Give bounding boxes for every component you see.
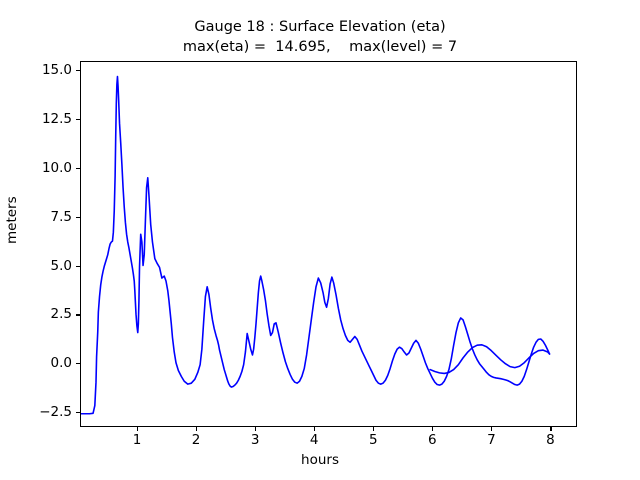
x-tick-mark [255, 427, 256, 431]
y-tick-label: 10.0 [2, 160, 72, 176]
x-tick-label: 8 [530, 432, 570, 448]
matplotlib-figure: Gauge 18 : Surface Elevation (eta) max(e… [0, 0, 640, 480]
y-tick-label: −2.5 [2, 404, 72, 420]
x-tick-label: 7 [471, 432, 511, 448]
x-tick-mark [373, 427, 374, 431]
plot-axes [80, 61, 577, 427]
x-tick-label: 3 [235, 432, 275, 448]
y-tick-label: 5.0 [2, 258, 72, 274]
chart-title: Gauge 18 : Surface Elevation (eta) max(e… [0, 17, 640, 57]
x-tick-mark [196, 427, 197, 431]
y-tick-label: 7.5 [2, 209, 72, 225]
x-tick-mark [491, 427, 492, 431]
chart-title-line-1: Gauge 18 : Surface Elevation (eta) [0, 17, 640, 37]
x-tick-mark [550, 427, 551, 431]
x-tick-label: 1 [117, 432, 157, 448]
x-tick-label: 6 [412, 432, 452, 448]
surface-elevation-line-plot [81, 62, 576, 426]
y-tick-label: 0.0 [2, 355, 72, 371]
x-tick-mark [314, 427, 315, 431]
y-tick-label: 12.5 [2, 111, 72, 127]
y-tick-label: 2.5 [2, 306, 72, 322]
x-tick-label: 2 [176, 432, 216, 448]
x-axis-label: hours [0, 452, 640, 468]
series-path-1 [430, 345, 549, 374]
x-tick-label: 4 [294, 432, 334, 448]
y-tick-label: 15.0 [2, 62, 72, 78]
series-path-0 [81, 77, 550, 414]
x-tick-label: 5 [353, 432, 393, 448]
x-tick-mark [432, 427, 433, 431]
x-tick-mark [137, 427, 138, 431]
chart-title-line-2: max(eta) = 14.695, max(level) = 7 [0, 37, 640, 57]
